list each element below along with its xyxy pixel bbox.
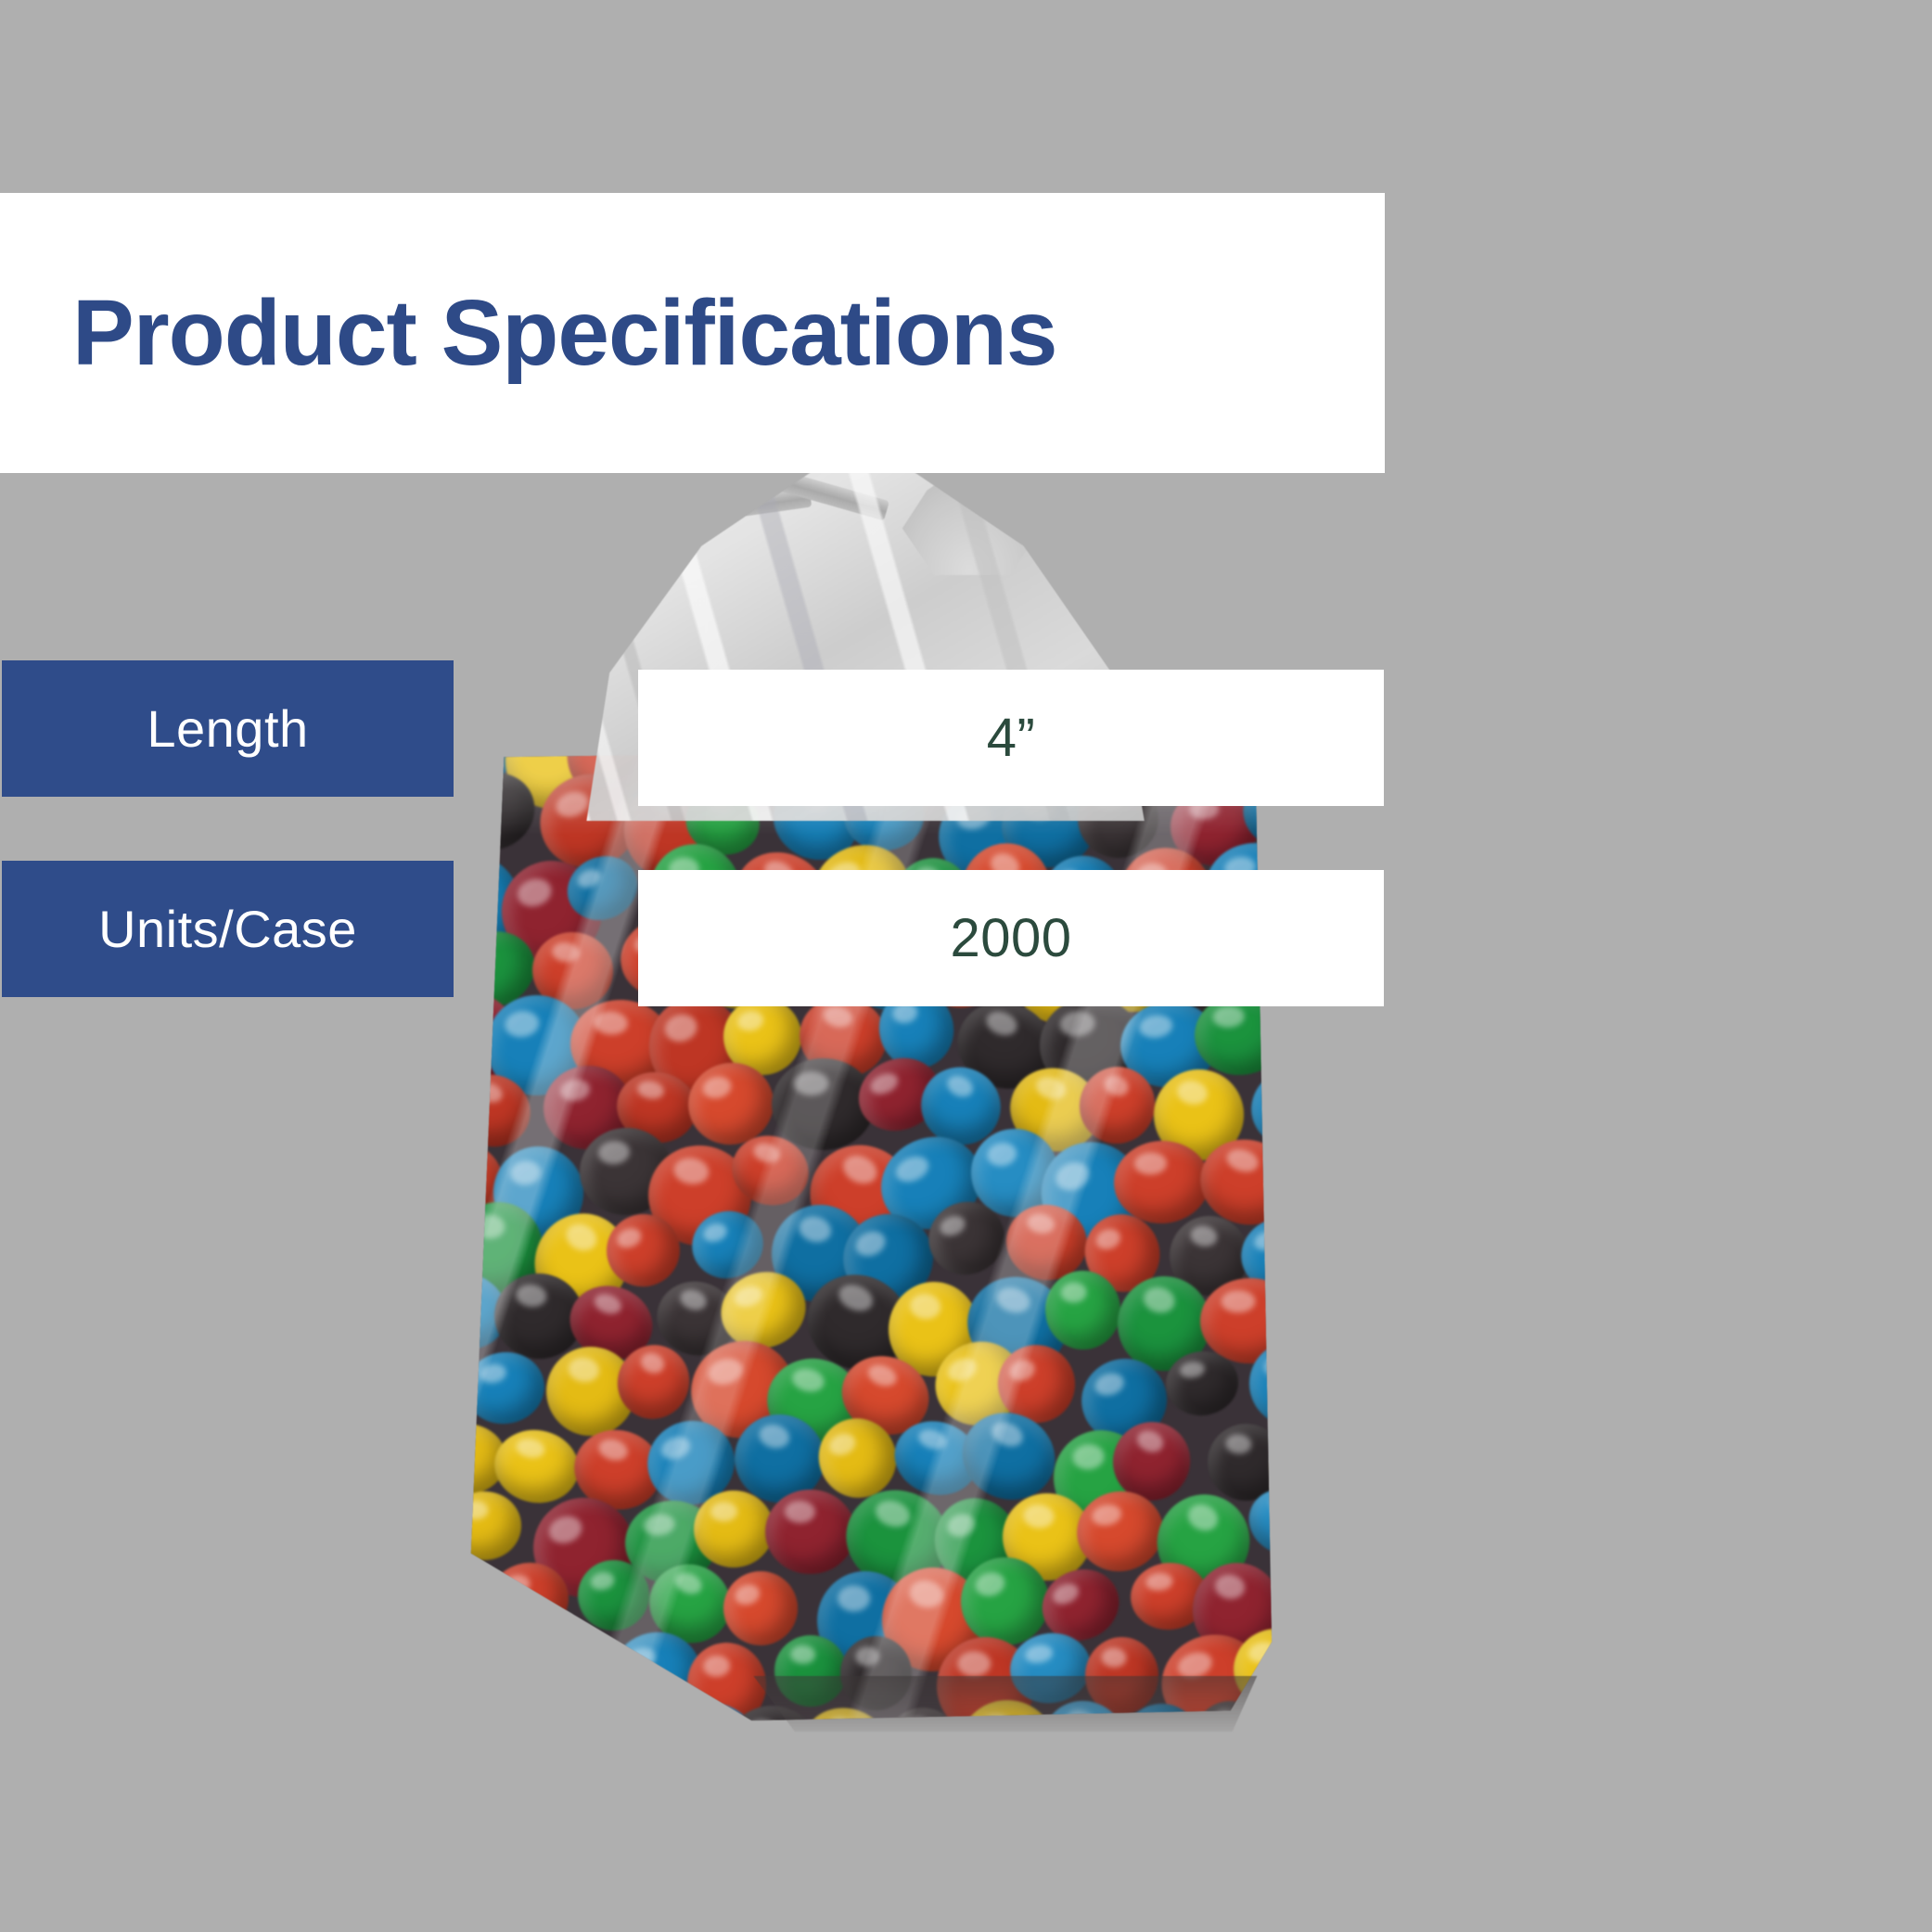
bag-bottom-shadow (456, 1676, 1282, 1732)
product-photo (454, 459, 1280, 1730)
candy-piece (454, 1690, 508, 1721)
spec-value-length: 4” (638, 670, 1384, 806)
product-specifications-slide: Product Specifications Length 4” Units/C… (0, 0, 1932, 1932)
candy-piece (1272, 1263, 1280, 1374)
spec-label-length: Length (2, 660, 454, 797)
bag-twist-top (881, 464, 1057, 575)
twist-tie-icon (566, 487, 812, 542)
spec-value-units-per-case: 2000 (638, 870, 1384, 1006)
candy-piece (577, 1706, 684, 1721)
spec-row: Units/Case 2000 (0, 861, 1385, 1018)
candy-piece (454, 1490, 523, 1561)
product-photo-inner (454, 459, 1280, 1730)
candy-piece (484, 1697, 592, 1721)
spec-label-units-per-case: Units/Case (2, 861, 454, 997)
page-title: Product Specifications (72, 287, 1057, 379)
candy-piece (454, 1565, 493, 1648)
candy-piece (454, 1618, 551, 1714)
spec-row: Length 4” (0, 660, 1385, 818)
candy-piece (525, 1633, 612, 1721)
title-banner: Product Specifications (0, 193, 1385, 473)
candy-piece (765, 1490, 855, 1575)
